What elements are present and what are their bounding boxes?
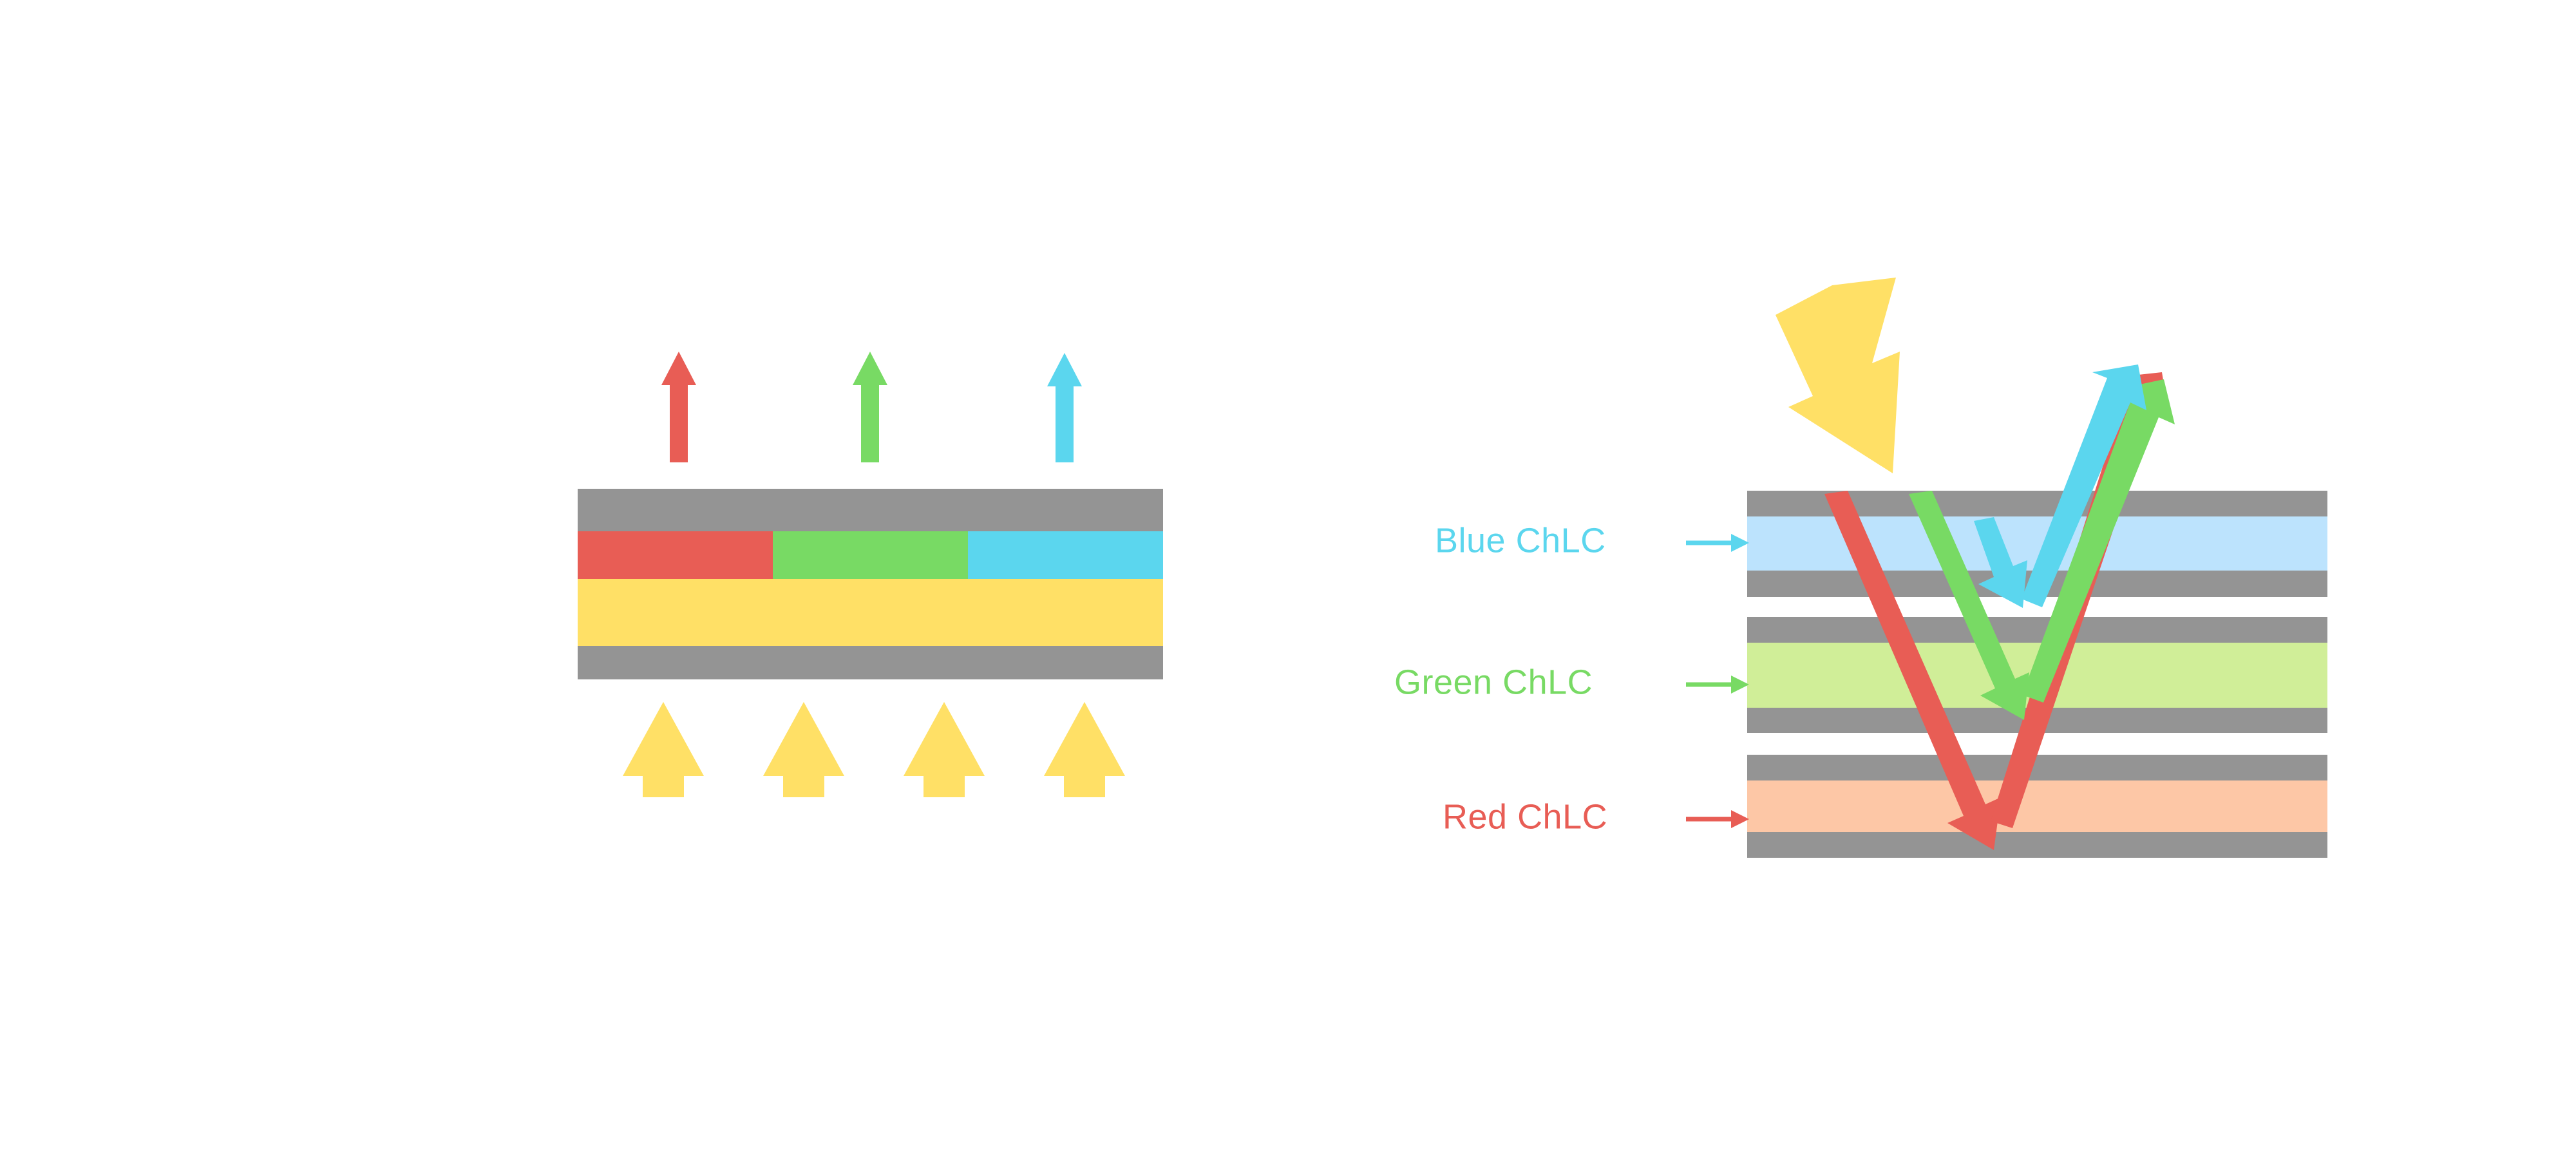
red-cell-top-electrode (1747, 755, 2327, 780)
chlc-display-diagram: Blue ChLC Green ChLC Red ChLC (0, 0, 2576, 1154)
left-stack-layers-group (578, 489, 1163, 679)
red-chlc-label: Red ChLC (1443, 797, 1607, 836)
red-chlc-cell (1747, 755, 2327, 858)
red-cell-bottom-electrode (1747, 832, 2327, 858)
left-blue-filter-segment (968, 531, 1163, 579)
green-chlc-label: Green ChLC (1394, 663, 1593, 701)
figure-root: Blue ChLC Green ChLC Red ChLC (0, 0, 2576, 1154)
left-yellow-backlight-layer (578, 579, 1163, 646)
left-top-gray-electrode (578, 489, 1163, 531)
blue-chlc-label: Blue ChLC (1435, 521, 1606, 560)
green-cell-top-electrode (1747, 617, 2327, 643)
left-bottom-gray-electrode (578, 646, 1163, 679)
left-green-filter-segment (773, 531, 968, 579)
left-red-filter-segment (578, 531, 773, 579)
red-chlc-layer (1747, 780, 2327, 832)
